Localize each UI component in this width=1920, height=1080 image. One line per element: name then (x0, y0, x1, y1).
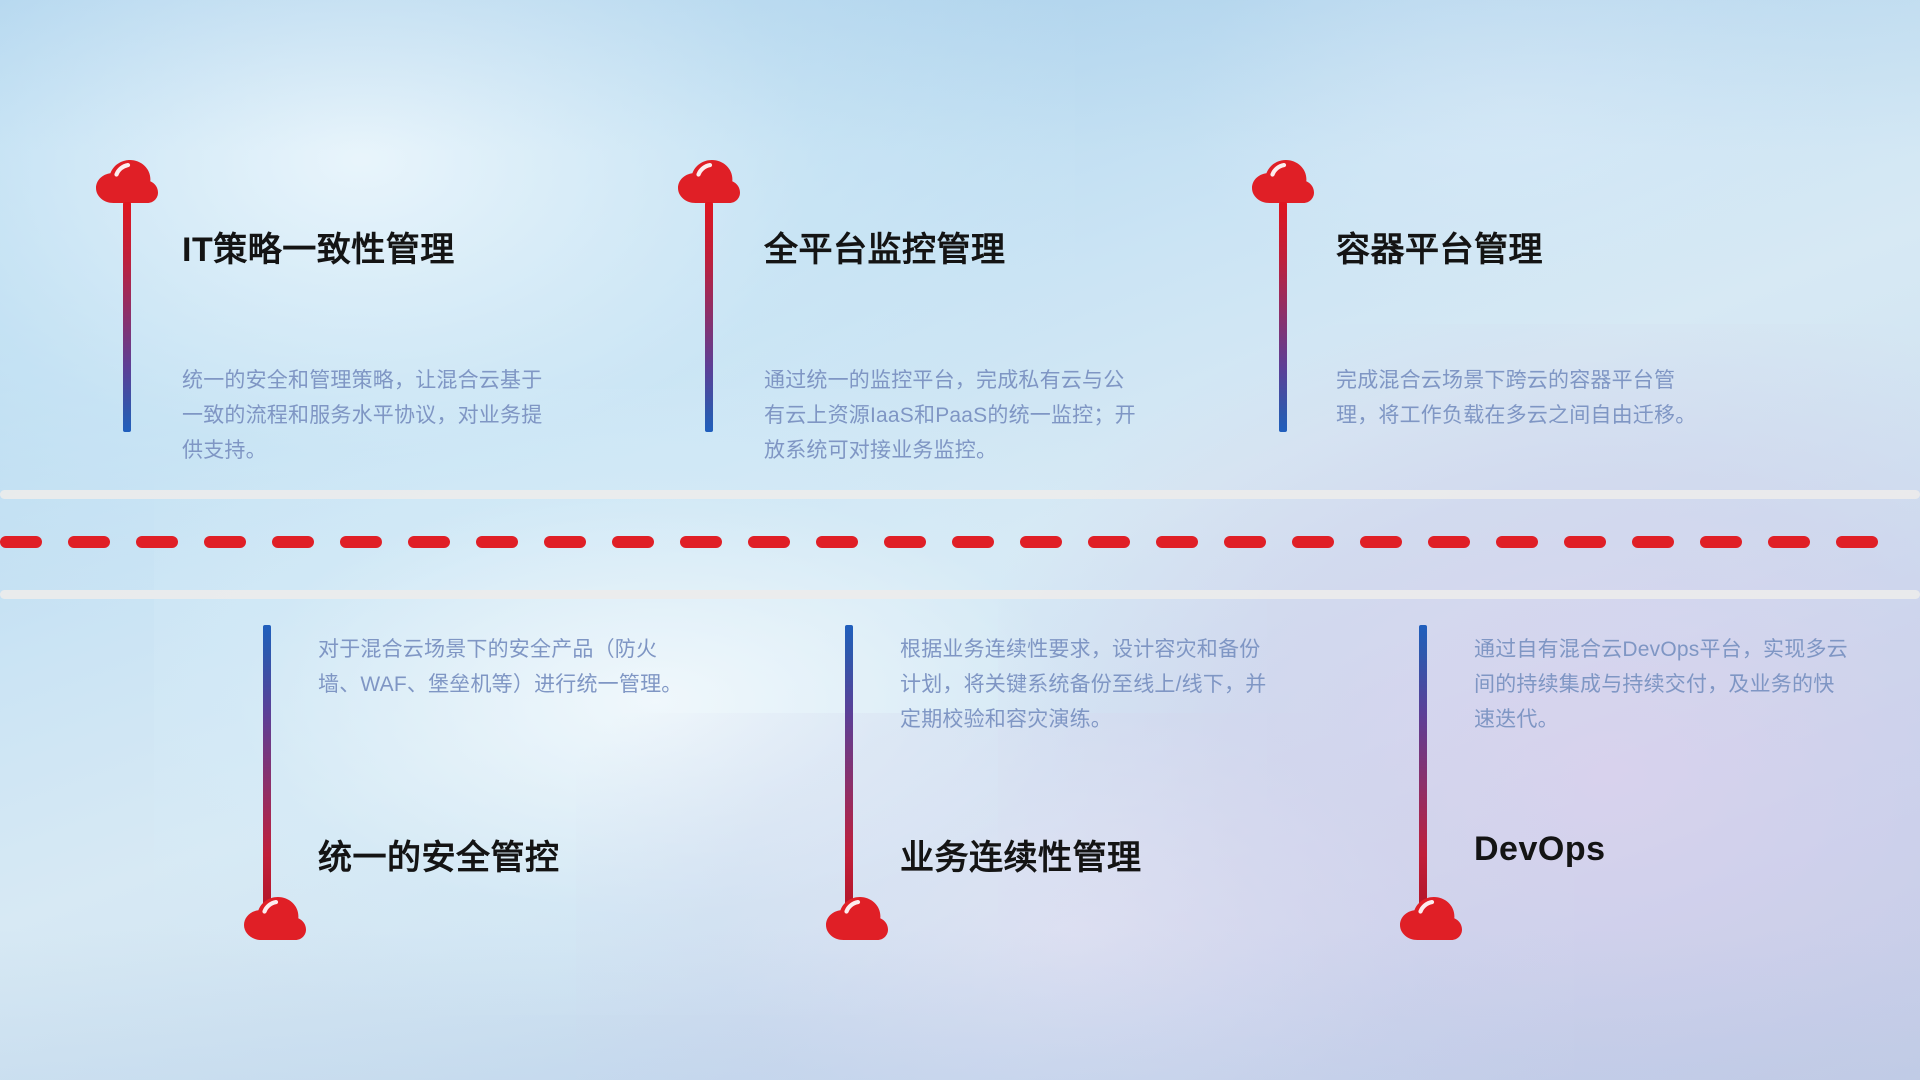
marker-top-3 (1252, 160, 1314, 204)
marker-top-3-body: 完成混合云场景下跨云的容器平台管理，将工作负载在多云之间自由迁移。 (1336, 363, 1716, 433)
road-dash (816, 536, 858, 548)
road-dash (68, 536, 110, 548)
road-dash (1632, 536, 1674, 548)
cloud-icon (96, 160, 158, 204)
road-dash (204, 536, 246, 548)
road-dash (612, 536, 654, 548)
road-line-upper (0, 490, 1920, 499)
cloud-icon (826, 897, 888, 941)
road-dash (952, 536, 994, 548)
marker-bottom-2-body: 根据业务连续性要求，设计容灾和备份计划，将关键系统备份至线上/线下，并定期校验和… (900, 632, 1280, 737)
marker-bottom-2-heading: 业务连续性管理 (900, 830, 1142, 879)
road-dash (1224, 536, 1266, 548)
cloud-icon (1400, 897, 1462, 941)
road-dash (272, 536, 314, 548)
cloud-icon (244, 897, 306, 941)
marker-stem (1419, 625, 1427, 905)
road-dash (1836, 536, 1878, 548)
road-dash (680, 536, 722, 548)
road-dash (0, 536, 42, 548)
marker-stem (845, 625, 853, 905)
road-dash (1156, 536, 1198, 548)
road-dash (1700, 536, 1742, 548)
road-line-lower (0, 590, 1920, 599)
marker-bottom-1-heading: 统一的安全管控 (318, 830, 560, 879)
marker-bottom-3-body: 通过自有混合云DevOps平台，实现多云间的持续集成与持续交付，及业务的快速迭代… (1474, 632, 1854, 737)
marker-bottom-1-body: 对于混合云场景下的安全产品（防火墙、WAF、堡垒机等）进行统一管理。 (318, 632, 698, 702)
marker-top-2-body: 通过统一的监控平台，完成私有云与公有云上资源IaaS和PaaS的统一监控；开放系… (764, 363, 1144, 468)
marker-top-2-heading: 全平台监控管理 (764, 222, 1006, 271)
road-dash (748, 536, 790, 548)
marker-top-1 (96, 160, 158, 204)
infographic-canvas: IT策略一致性管理 统一的安全和管理策略，让混合云基于一致的流程和服务水平协议，… (0, 0, 1920, 1080)
marker-top-3-heading: 容器平台管理 (1336, 222, 1543, 271)
road-dash (136, 536, 178, 548)
marker-stem (1279, 202, 1287, 432)
marker-stem (705, 202, 713, 432)
road-dash (1428, 536, 1470, 548)
road-dash (1496, 536, 1538, 548)
marker-top-2 (678, 160, 740, 204)
marker-top-1-heading: IT策略一致性管理 (182, 222, 455, 271)
road-dash (408, 536, 450, 548)
cloud-icon (1252, 160, 1314, 204)
road-dash (1360, 536, 1402, 548)
road-dash (1564, 536, 1606, 548)
marker-stem (123, 202, 131, 432)
road-dash (884, 536, 926, 548)
road-dash (1088, 536, 1130, 548)
road-dash (544, 536, 586, 548)
road-dash (476, 536, 518, 548)
road-center-dashed-line (0, 536, 1920, 548)
road-dash (340, 536, 382, 548)
marker-top-1-body: 统一的安全和管理策略，让混合云基于一致的流程和服务水平协议，对业务提供支持。 (182, 363, 562, 468)
marker-stem (263, 625, 271, 905)
road-dash (1768, 536, 1810, 548)
road-dash (1292, 536, 1334, 548)
marker-bottom-3-heading: DevOps (1474, 830, 1606, 869)
cloud-icon (678, 160, 740, 204)
road-dash (1020, 536, 1062, 548)
